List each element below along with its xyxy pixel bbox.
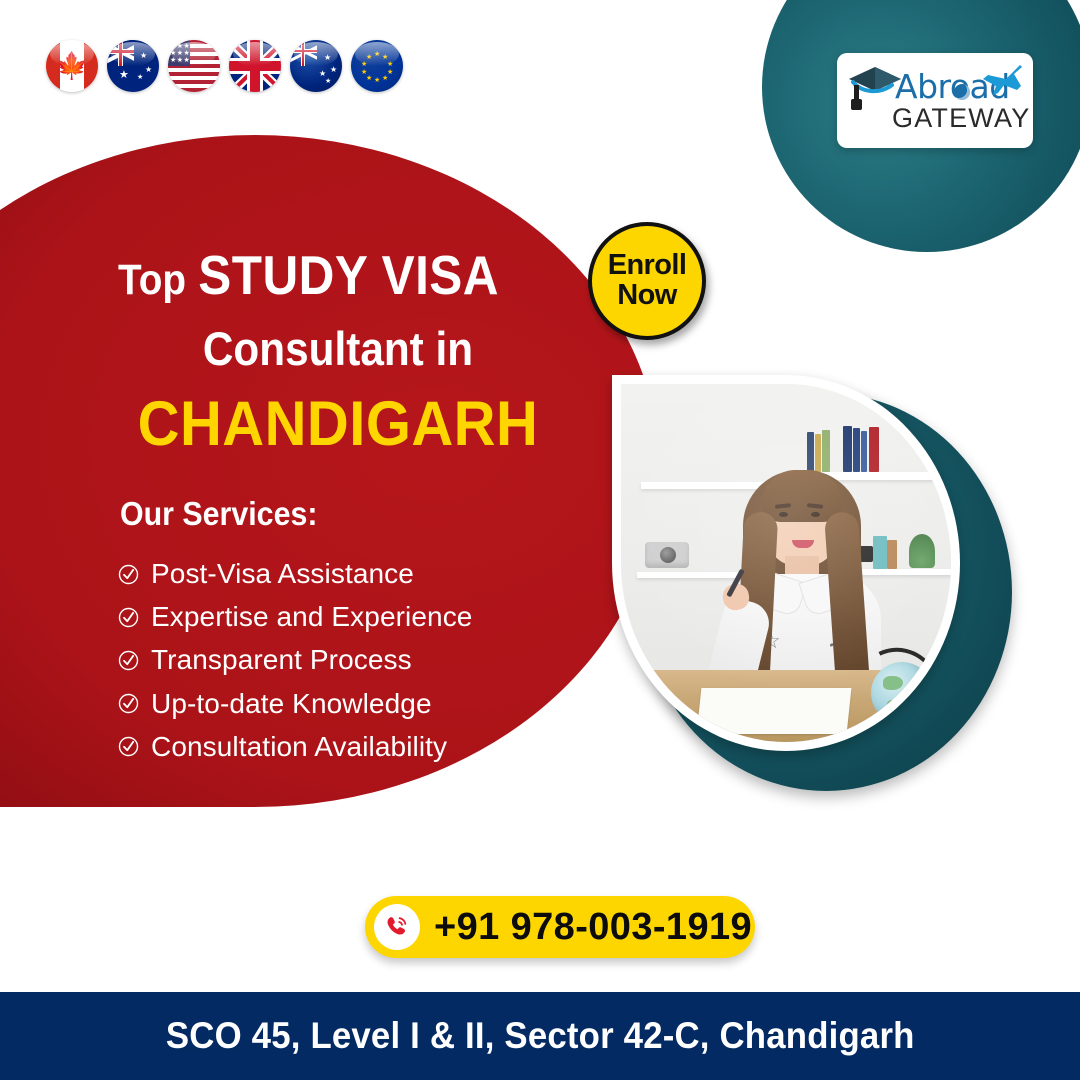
address-footer-bar: SCO 45, Level I & II, Sector 42-C, Chand… xyxy=(0,992,1080,1080)
headline-top-word: Top xyxy=(118,256,186,304)
headline-block: Top STUDY VISA Consultant in CHANDIGARH xyxy=(118,248,558,460)
phone-cta-button[interactable]: +91 978-003-1919 xyxy=(365,896,755,958)
phone-number-text: +91 978-003-1919 xyxy=(434,906,752,949)
check-circle-icon xyxy=(118,693,139,714)
usa-flag: ★★★★★★★★★ xyxy=(168,40,220,92)
brand-logo[interactable]: Abroad GATEWAY xyxy=(837,53,1033,148)
plant-decoration xyxy=(909,534,935,568)
service-label: Expertise and Experience xyxy=(151,601,472,633)
service-label: Up-to-date Knowledge xyxy=(151,688,432,720)
headline-study-visa: STUDY VISA xyxy=(198,244,499,306)
services-heading: Our Services: xyxy=(120,495,317,533)
canada-flag: 🍁 xyxy=(46,40,98,92)
uk-flag xyxy=(229,40,281,92)
country-flags-row: 🍁 ★ ★ ★ ★ xyxy=(46,40,403,92)
headline-line-1: Top STUDY VISA xyxy=(118,248,514,303)
airplane-icon xyxy=(976,62,1024,100)
new-zealand-flag: ★ ★ ★ ★ xyxy=(290,40,342,92)
promotional-poster: Abroad GATEWAY 🍁 xyxy=(0,0,1080,1080)
services-list: Post-Visa Assistance Expertise and Exper… xyxy=(118,558,548,774)
service-label: Transparent Process xyxy=(151,644,412,676)
student-photo-frame: ☆ ♫ xyxy=(612,375,960,751)
check-circle-icon xyxy=(118,736,139,757)
enroll-now-button[interactable]: Enroll Now xyxy=(588,222,706,340)
notebook-paper xyxy=(697,688,852,734)
enroll-label-line1: Enroll xyxy=(608,251,687,281)
list-item: Post-Visa Assistance xyxy=(118,558,548,590)
address-text: SCO 45, Level I & II, Sector 42-C, Chand… xyxy=(166,1015,915,1057)
globe-icon xyxy=(954,84,970,100)
eye xyxy=(811,512,820,517)
headline-line-2: Consultant in xyxy=(140,321,536,376)
student-photo: ☆ ♫ xyxy=(621,384,951,742)
european-union-flag: ★ ★ ★ ★ ★ ★ ★ ★ ★ ★ xyxy=(351,40,403,92)
check-circle-icon xyxy=(118,650,139,671)
service-label: Consultation Availability xyxy=(151,731,447,763)
list-item: Expertise and Experience xyxy=(118,601,548,633)
book xyxy=(887,540,897,569)
enroll-label-line2: Now xyxy=(617,281,676,311)
list-item: Transparent Process xyxy=(118,644,548,676)
globe-icon xyxy=(871,662,933,724)
hair-fringe xyxy=(762,470,842,522)
australia-flag: ★ ★ ★ ★ xyxy=(107,40,159,92)
camera-decoration xyxy=(645,542,689,568)
check-circle-icon xyxy=(118,607,139,628)
check-circle-icon xyxy=(118,564,139,585)
headline-city: CHANDIGARH xyxy=(136,388,541,460)
eye xyxy=(779,512,788,517)
phone-icon xyxy=(374,904,420,950)
list-item: Consultation Availability xyxy=(118,731,548,763)
list-item: Up-to-date Knowledge xyxy=(118,688,548,720)
logo-gateway-text: GATEWAY xyxy=(892,105,1030,132)
service-label: Post-Visa Assistance xyxy=(151,558,414,590)
